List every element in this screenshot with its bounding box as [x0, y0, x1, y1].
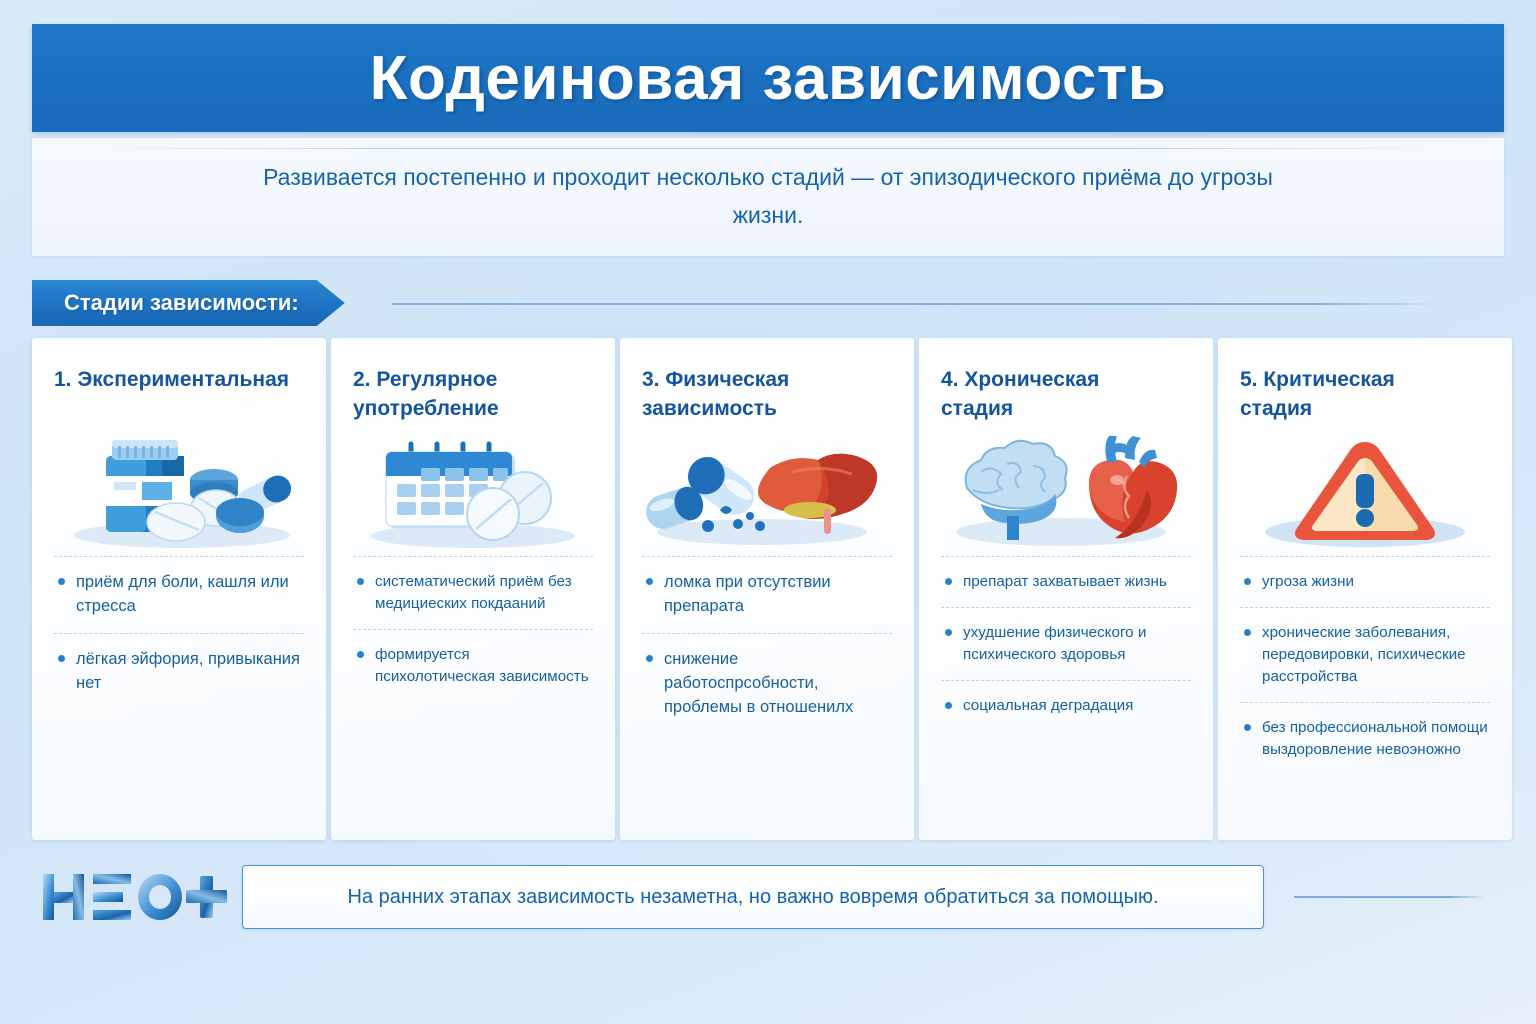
header-banner: Кодеиновая зависимость	[32, 24, 1504, 132]
list-item: ломка при отсутствии препарата	[642, 556, 892, 633]
stage-card-4-title: 4. Хроническая стадия	[941, 366, 1191, 426]
subtitle-band: Развивается постепенно и проходит нескол…	[32, 138, 1504, 256]
stage-card-1-bullets: приём для боли, кашля или стресса лёгкая…	[54, 556, 304, 710]
list-item: лёгкая эйфория, привыкания нет	[54, 633, 304, 710]
stage-cards-container: 1. Экспериментальная	[32, 338, 1504, 840]
brain-heart-icon	[941, 428, 1191, 550]
subtitle-text: Развивается постепенно и проходит нескол…	[258, 159, 1278, 235]
list-item: систематический приём без медициеских по…	[353, 556, 593, 629]
stage-card-3-title: 3. Физическая зависимость	[642, 366, 892, 426]
neo-plus-logo	[32, 866, 242, 928]
infographic-page: Кодеиновая зависимость Развивается посте…	[0, 0, 1536, 1024]
pill-bottle-icon	[54, 428, 304, 550]
page-title: Кодеиновая зависимость	[370, 43, 1167, 114]
stage-card-3[interactable]: 3. Физическая зависимость	[620, 338, 914, 840]
stage-card-5[interactable]: 5. Критическая стадия угроза жизни хрони…	[1218, 338, 1512, 840]
stage-card-4[interactable]: 4. Хроническая стадия	[919, 338, 1213, 840]
list-item: формируется психолотическая зависимость	[353, 629, 593, 702]
list-item: без профессиональной помощи выздоровлени…	[1240, 702, 1490, 775]
warning-triangle-icon	[1240, 428, 1490, 550]
stage-card-2-bullets: систематический приём без медициеских по…	[353, 556, 593, 702]
stage-card-1-title: 1. Экспериментальная	[54, 366, 304, 426]
list-item: снижение работоспрсобности, проблемы в о…	[642, 633, 892, 734]
stage-card-5-bullets: угроза жизни хронические заболевания, пе…	[1240, 556, 1490, 775]
list-item: социальная деградация	[941, 680, 1191, 731]
footer-divider-line	[1294, 896, 1486, 898]
stage-card-3-bullets: ломка при отсутствии препарата снижение …	[642, 556, 892, 734]
capsule-liver-icon	[642, 428, 892, 550]
stage-card-5-title: 5. Критическая стадия	[1240, 366, 1490, 426]
stage-card-2[interactable]: 2. Регулярное употребление	[331, 338, 615, 840]
list-item: хронические заболевания, передовировки, …	[1240, 607, 1490, 702]
section-divider-line	[392, 303, 1442, 305]
calendar-pills-icon	[353, 428, 593, 550]
list-item: приём для боли, кашля или стресса	[54, 556, 304, 633]
section-header-row: Стадии зависимости:	[32, 280, 1504, 326]
section-label-tag: Стадии зависимости:	[32, 280, 345, 326]
list-item: ухудшение физического и психического здо…	[941, 607, 1191, 680]
stage-card-4-bullets: препарат захватывает жизнь ухудшение физ…	[941, 556, 1191, 731]
footer: На ранних этапах зависимость незаметна, …	[32, 858, 1504, 936]
list-item: препарат захватывает жизнь	[941, 556, 1191, 607]
footer-note-box: На ранних этапах зависимость незаметна, …	[242, 865, 1264, 929]
stage-card-2-title: 2. Регулярное употребление	[353, 366, 593, 426]
stage-card-1[interactable]: 1. Экспериментальная	[32, 338, 326, 840]
footer-note-text: На ранних этапах зависимость незаметна, …	[347, 886, 1158, 909]
list-item: угроза жизни	[1240, 556, 1490, 607]
